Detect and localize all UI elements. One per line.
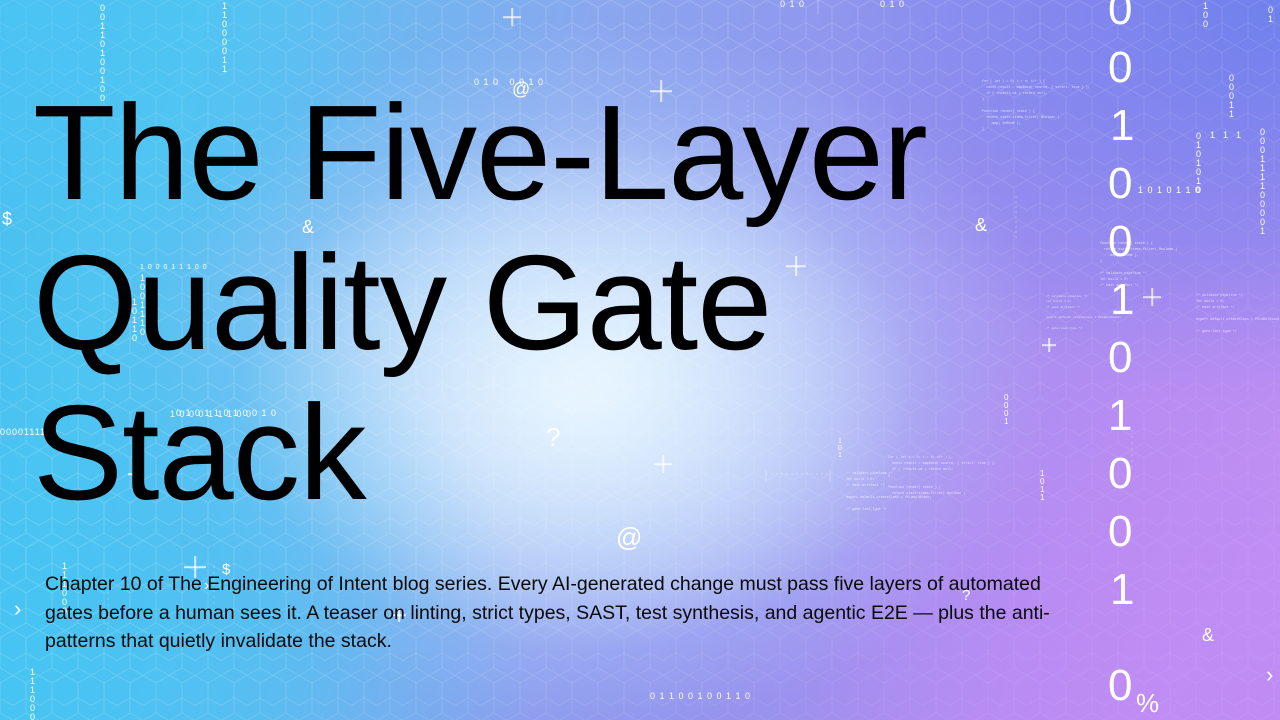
binary-digit: 1 — [1110, 278, 1134, 322]
binary-stream-top-right-b: 0 1 — [1268, 6, 1273, 24]
binary-digit: 0 — [1108, 46, 1132, 90]
binary-digit: 0 — [1108, 162, 1132, 206]
binary-digit: 0 — [1108, 0, 1132, 32]
binary-digit: 0 — [1108, 452, 1132, 496]
binary-stream-code-area: 0 0 0 1 — [1004, 394, 1008, 426]
chevron-right-icon: › — [1266, 664, 1273, 686]
ampersand-symbol: & — [1202, 626, 1214, 644]
plus-marker — [503, 8, 521, 26]
binary-digit: 0 — [1108, 664, 1132, 708]
plus-marker — [1143, 288, 1161, 306]
binary-stream-right-b: 0 0 0 1 1 1 1 0 0 0 0 1 — [1260, 128, 1265, 236]
slide-title: The Five-Layer Quality Gate Stack — [33, 78, 933, 528]
binary-run-very-top: 0 1 0 — [780, 0, 805, 9]
binary-stream-bottom-left: 1 1 1 0 0 0 — [30, 668, 35, 720]
binary-run-very-top-2: 0 1 0 — [880, 0, 905, 9]
percent-symbol: % — [1136, 690, 1159, 716]
binary-run-right-d: 1 1 1 — [1210, 131, 1242, 140]
binary-stream-left-2: 1 1 0 0 0 0 1 1 — [222, 2, 227, 74]
binary-digit: 1 — [1110, 568, 1134, 612]
binary-digit: 0 — [1108, 510, 1132, 554]
binary-run-bottom: 0 1 1 0 0 1 0 0 1 1 0 — [650, 692, 751, 701]
binary-digit: 1 — [1108, 394, 1132, 438]
binary-digit: 0 — [1108, 336, 1132, 380]
dollar-symbol: $ — [2, 210, 12, 228]
binary-stream-right-c: 0 1 0 1 0 1 0 — [1196, 132, 1201, 195]
binary-stream-lower-right: 1 0 1 1 — [1040, 470, 1044, 502]
ampersand-symbol: & — [975, 216, 987, 234]
binary-run-mid-3: 1 0 1 0 1 1 0 — [1138, 186, 1201, 195]
code-fragment-block: /* validate pipeline */ let build = 0; /… — [1196, 294, 1266, 336]
binary-digit: 1 — [1110, 104, 1134, 148]
code-fragment-block: for ( let i = 0; i < n; i++ ) { const re… — [982, 80, 1100, 134]
code-fragment-block: /* validate pipeline */ let build = 0; /… — [1046, 294, 1106, 331]
code-fragment-block: function render( state ) { return state.… — [1100, 242, 1218, 290]
binary-digit: 0 — [1108, 220, 1132, 264]
binary-stream-top-right-a: 1 0 0 — [1203, 2, 1208, 29]
plus-marker — [1042, 338, 1056, 352]
slide-canvas: 0 0 1 0 0 1 0 1 0 0 1 0 % & & & $ $ ? ? … — [0, 0, 1280, 720]
binary-stream-right-a: 0 0 0 1 1 — [1229, 74, 1234, 119]
slide-subtitle: Chapter 10 of The Engineering of Intent … — [45, 570, 1060, 656]
chevron-right-icon: › — [14, 598, 21, 620]
